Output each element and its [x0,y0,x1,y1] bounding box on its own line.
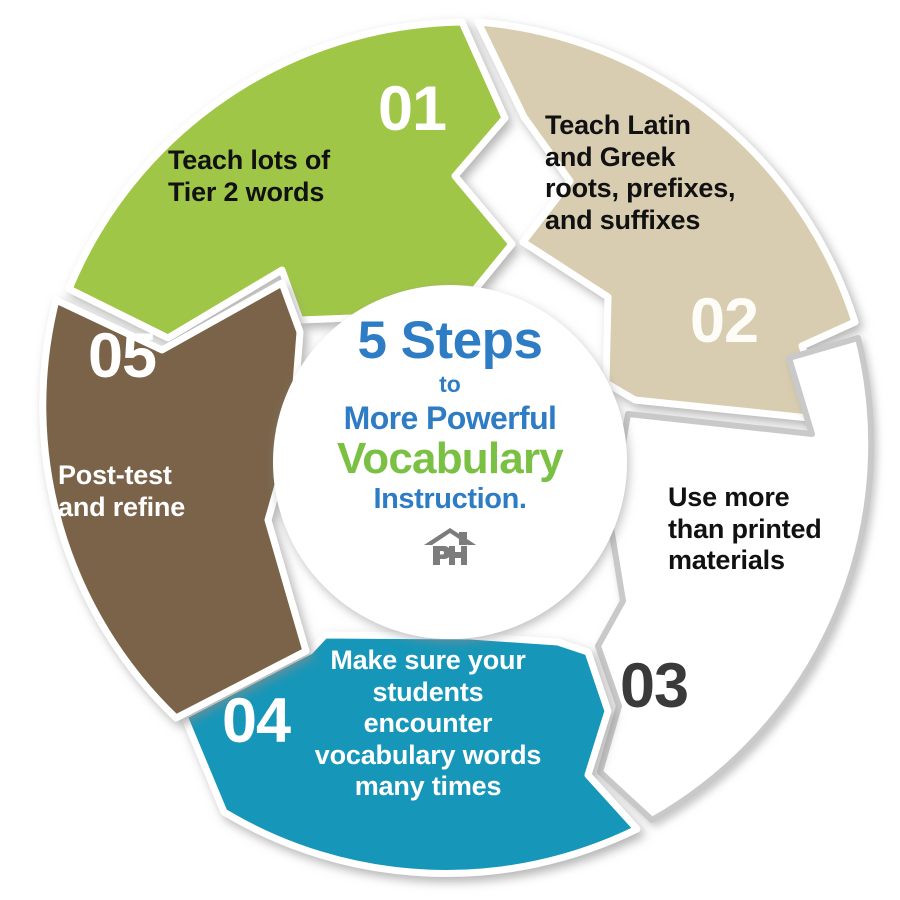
center-line-4: Vocabulary [337,437,563,481]
infographic-canvas: 01 Teach lots of Tier 2 words 02 Teach L… [0,0,900,900]
step-number-03: 03 [620,655,688,718]
step-label-01: Teach lots of Tier 2 words [168,145,398,208]
center-line-2: to [439,373,461,396]
center-line-1: 5 Steps [357,314,542,367]
center-line-3: More Powerful [344,402,557,434]
center-line-5: Instruction. [373,485,526,514]
step-label-05: Post-test and refine [58,460,238,523]
step-number-05: 05 [88,325,156,388]
ph-house-logo [423,526,477,571]
ph-house-logo-icon [423,526,477,566]
step-label-02: Teach Latin and Greek roots, prefixes, a… [545,110,795,236]
step-number-01: 01 [378,78,446,141]
step-label-04: Make sure your students encounter vocabu… [278,645,578,803]
step-label-03: Use more than printed materials [668,482,888,577]
step-number-02: 02 [690,290,758,353]
center-title-block: 5 Steps to More Powerful Vocabulary Inst… [281,300,619,625]
